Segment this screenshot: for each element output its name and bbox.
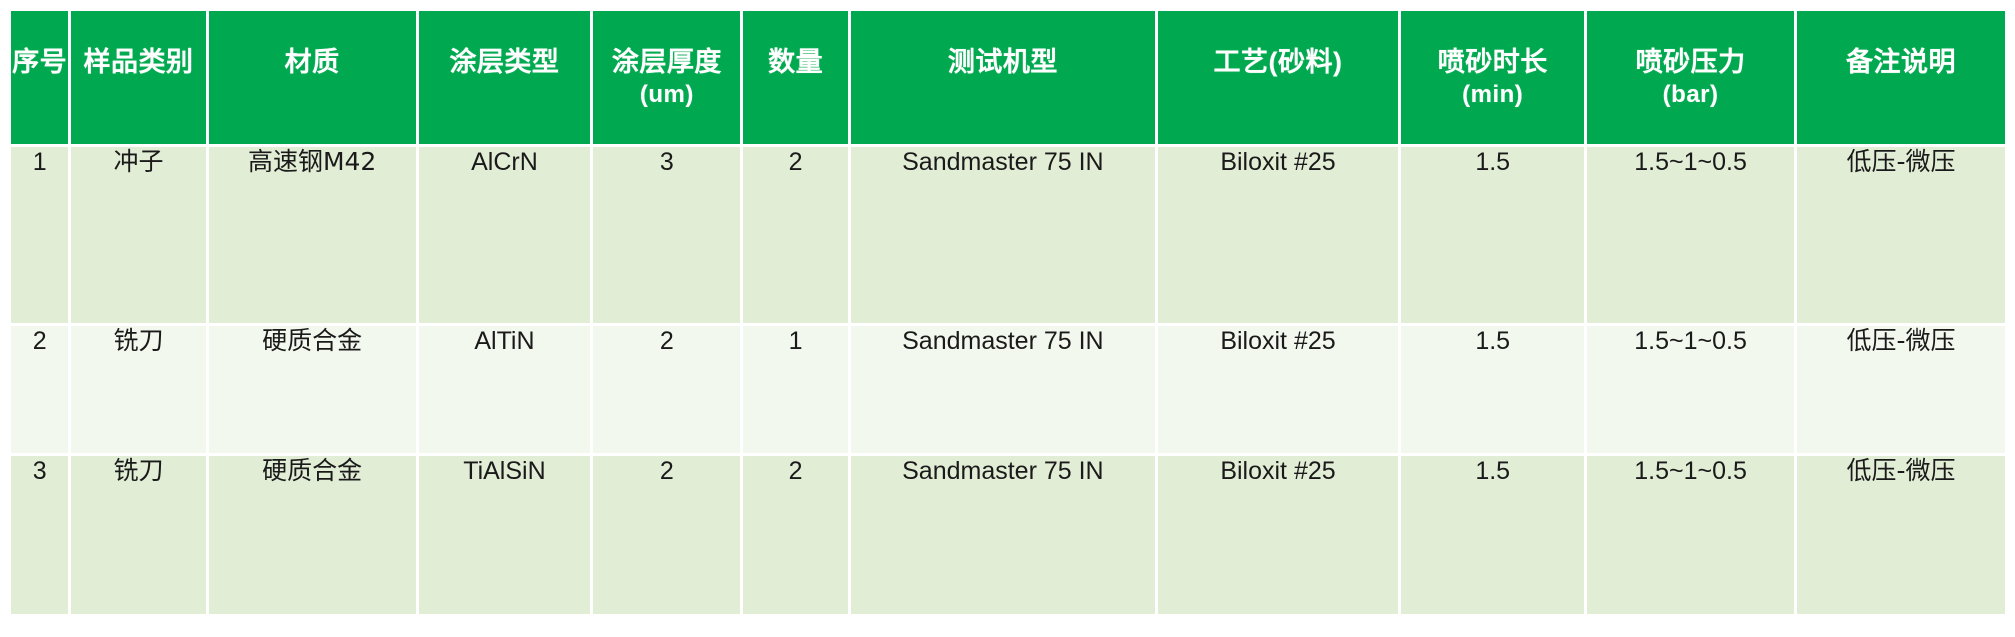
cell-sample: 铣刀 <box>71 326 206 453</box>
sample-spec-table: 序号 样品类别 材质 涂层类型 涂层厚度 (um) 数量 <box>8 8 2008 617</box>
column-header-label: 喷砂时长 <box>1438 47 1548 77</box>
table-row: 1 冲子 高速钢M42 AlCrN 3 2 Sandmaster 75 IN B… <box>11 147 2005 323</box>
cell-qty: 1 <box>743 326 848 453</box>
document-canvas: 序号 样品类别 材质 涂层类型 涂层厚度 (um) 数量 <box>0 0 2015 637</box>
cell-qty: 2 <box>743 147 848 323</box>
cell-blasttime: 1.5 <box>1401 326 1584 453</box>
cell-coating: AlTiN <box>419 326 591 453</box>
column-header-thickness: 涂层厚度 (um) <box>593 11 740 144</box>
column-header-sample: 样品类别 <box>71 11 206 144</box>
table-header-row: 序号 样品类别 材质 涂层类型 涂层厚度 (um) 数量 <box>11 11 2005 144</box>
cell-thickness: 2 <box>593 456 740 614</box>
cell-value: 低压-微压 <box>1797 456 2005 486</box>
column-header-unit: (um) <box>593 79 740 110</box>
cell-value: 1.5 <box>1401 326 1584 356</box>
cell-remark: 低压-微压 <box>1797 147 2005 323</box>
column-header-coating: 涂层类型 <box>419 11 591 144</box>
column-header-blasttime: 喷砂时长 (min) <box>1401 11 1584 144</box>
cell-value: 铣刀 <box>71 326 206 356</box>
cell-value: 1.5 <box>1401 147 1584 177</box>
cell-value: 1 <box>743 326 848 356</box>
column-header-label: 序号 <box>12 47 67 77</box>
cell-value: Sandmaster 75 IN <box>851 147 1155 177</box>
cell-process: Biloxit #25 <box>1158 456 1398 614</box>
cell-value: Biloxit #25 <box>1158 147 1398 177</box>
cell-material: 高速钢M42 <box>209 147 416 323</box>
column-header-label: 材质 <box>285 47 340 77</box>
cell-value: 2 <box>593 456 740 486</box>
cell-value: 冲子 <box>71 147 206 177</box>
cell-pressure: 1.5~1~0.5 <box>1587 456 1794 614</box>
table-row: 3 铣刀 硬质合金 TiAlSiN 2 2 Sandmaster 75 IN B… <box>11 456 2005 614</box>
cell-qty: 2 <box>743 456 848 614</box>
cell-value: 2 <box>743 147 848 177</box>
cell-pressure: 1.5~1~0.5 <box>1587 147 1794 323</box>
cell-thickness: 2 <box>593 326 740 453</box>
column-header-label: 测试机型 <box>948 47 1058 77</box>
column-header-material: 材质 <box>209 11 416 144</box>
cell-value: 铣刀 <box>71 456 206 486</box>
cell-value: Sandmaster 75 IN <box>851 456 1155 486</box>
cell-machine: Sandmaster 75 IN <box>851 456 1155 614</box>
cell-value: 1 <box>11 147 68 177</box>
cell-value: 2 <box>593 326 740 356</box>
cell-material: 硬质合金 <box>209 456 416 614</box>
cell-value: AlTiN <box>419 326 591 356</box>
cell-value: 1.5~1~0.5 <box>1587 326 1794 356</box>
cell-machine: Sandmaster 75 IN <box>851 326 1155 453</box>
cell-sample: 冲子 <box>71 147 206 323</box>
cell-value: AlCrN <box>419 147 591 177</box>
cell-value: 2 <box>11 326 68 356</box>
cell-seq: 1 <box>11 147 68 323</box>
column-header-unit: (bar) <box>1587 79 1794 110</box>
cell-value: Biloxit #25 <box>1158 456 1398 486</box>
cell-value: 1.5~1~0.5 <box>1587 147 1794 177</box>
cell-blasttime: 1.5 <box>1401 147 1584 323</box>
cell-value: 低压-微压 <box>1797 326 2005 356</box>
cell-value: Biloxit #25 <box>1158 326 1398 356</box>
cell-value: 高速钢M42 <box>209 147 416 177</box>
cell-coating: AlCrN <box>419 147 591 323</box>
cell-process: Biloxit #25 <box>1158 326 1398 453</box>
cell-value: 1.5 <box>1401 456 1584 486</box>
cell-seq: 2 <box>11 326 68 453</box>
cell-value: 低压-微压 <box>1797 147 2005 177</box>
column-header-process: 工艺(砂料) <box>1158 11 1398 144</box>
cell-value: Sandmaster 75 IN <box>851 326 1155 356</box>
column-header-label: 备注说明 <box>1846 47 1956 77</box>
cell-material: 硬质合金 <box>209 326 416 453</box>
cell-value: TiAlSiN <box>419 456 591 486</box>
cell-value: 3 <box>11 456 68 486</box>
cell-coating: TiAlSiN <box>419 456 591 614</box>
cell-seq: 3 <box>11 456 68 614</box>
column-header-pressure: 喷砂压力 (bar) <box>1587 11 1794 144</box>
table-body: 1 冲子 高速钢M42 AlCrN 3 2 Sandmaster 75 IN B… <box>11 147 2005 614</box>
cell-value: 1.5~1~0.5 <box>1587 456 1794 486</box>
column-header-label: 样品类别 <box>84 47 194 77</box>
column-header-machine: 测试机型 <box>851 11 1155 144</box>
cell-blasttime: 1.5 <box>1401 456 1584 614</box>
column-header-unit: (min) <box>1401 79 1584 110</box>
cell-value: 2 <box>743 456 848 486</box>
column-header-seq: 序号 <box>11 11 68 144</box>
cell-pressure: 1.5~1~0.5 <box>1587 326 1794 453</box>
column-header-label: 涂层类型 <box>449 47 559 77</box>
cell-value: 硬质合金 <box>209 326 416 356</box>
cell-value: 硬质合金 <box>209 456 416 486</box>
table-header: 序号 样品类别 材质 涂层类型 涂层厚度 (um) 数量 <box>11 11 2005 144</box>
cell-process: Biloxit #25 <box>1158 147 1398 323</box>
cell-machine: Sandmaster 75 IN <box>851 147 1155 323</box>
cell-remark: 低压-微压 <box>1797 456 2005 614</box>
table-row: 2 铣刀 硬质合金 AlTiN 2 1 Sandmaster 75 IN Bil… <box>11 326 2005 453</box>
column-header-label: 喷砂压力 <box>1636 47 1746 77</box>
cell-value: 3 <box>593 147 740 177</box>
column-header-label: 工艺(砂料) <box>1214 47 1343 77</box>
cell-thickness: 3 <box>593 147 740 323</box>
column-header-label: 数量 <box>768 47 823 77</box>
column-header-qty: 数量 <box>743 11 848 144</box>
cell-remark: 低压-微压 <box>1797 326 2005 453</box>
cell-sample: 铣刀 <box>71 456 206 614</box>
column-header-label: 涂层厚度 <box>612 47 722 77</box>
column-header-remark: 备注说明 <box>1797 11 2005 144</box>
